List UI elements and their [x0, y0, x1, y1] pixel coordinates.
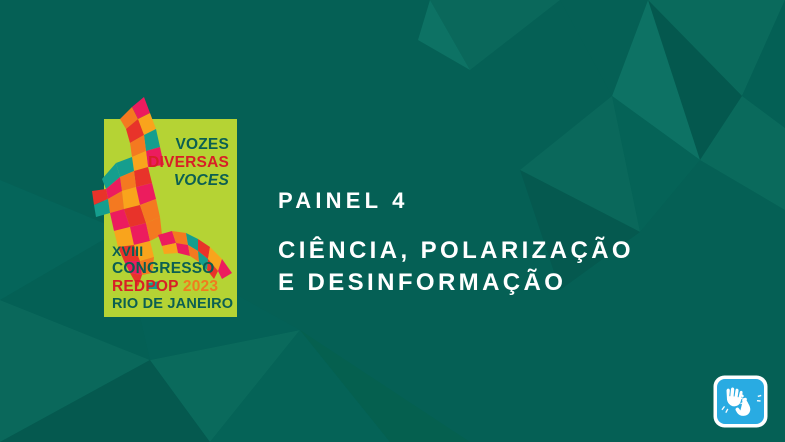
logo-brand: REDPOP [112, 278, 178, 295]
logo-tagline-line2: DIVERSAS [148, 155, 229, 171]
logo-edition: XVIII [112, 244, 143, 258]
logo-congress-word: CONGRESSO [112, 261, 215, 277]
logo-tagline-line3: VOCES [174, 173, 229, 189]
libras-sign-language-icon[interactable] [712, 374, 769, 429]
panel-title-line1: CIÊNCIA, POLARIZAÇÃO [278, 237, 634, 264]
panel-label: PAINEL 4 [278, 188, 409, 214]
logo-year: 2023 [183, 278, 218, 295]
logo-brand-year: REDPOP 2023 [112, 279, 218, 295]
logo-city: RIO DE JANEIRO [112, 297, 233, 312]
panel-title-line2: E DESINFORMAÇÃO [278, 269, 566, 296]
logo-tagline-line1: VOZES [175, 137, 229, 153]
panel-title: CIÊNCIA, POLARIZAÇÃOE DESINFORMAÇÃO [278, 235, 634, 299]
presentation-slide: VOZES DIVERSAS VOCES XVIII CONGRESSO RED… [0, 0, 785, 442]
congress-logo: VOZES DIVERSAS VOCES XVIII CONGRESSO RED… [104, 119, 237, 317]
